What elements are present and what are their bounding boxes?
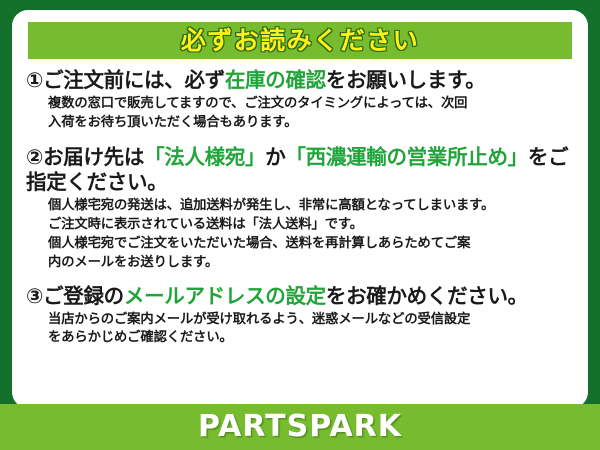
section-1-heading-part-1: ご注文前には、必ず xyxy=(43,68,225,92)
section-3-marker: ③ xyxy=(26,284,43,308)
notice-card: 必ずお読みください ①ご注文前には、必ず在庫の確認をお願いします。 複数の窓口で… xyxy=(0,0,600,450)
notice-section-3: ③ご登録のメールアドレスの設定をお確かめください。 当店からのご案内メールが受け… xyxy=(26,284,578,349)
section-3-heading-part-3: をお確かめください。 xyxy=(326,284,528,308)
section-2-heading-part-3: か xyxy=(265,145,285,169)
notice-title: 必ずお読みください xyxy=(181,28,420,53)
section-2-heading: ②お届け先は「法人様宛」か「西濃運輸の営業所止め」をご指定ください。 xyxy=(26,145,578,197)
section-2-body: 個人様宅宛の発送は、追加送料が発生し、非常に高額となってしまいます。ご注文時に表… xyxy=(26,197,578,273)
section-1-heading: ①ご注文前には、必ず在庫の確認をお願いします。 xyxy=(26,68,578,94)
partspark-logo: PARTSPARK xyxy=(198,412,402,442)
section-1-body: 複数の窓口で販売してますので、ご注文のタイミングによっては、次回入荷をお待ち頂い… xyxy=(26,95,578,133)
section-1-heading-part-2: 在庫の確認 xyxy=(225,68,326,92)
section-2-body-line-1: 個人様宅宛の発送は、追加送料が発生し、非常に高額となってしまいます。 xyxy=(48,197,578,216)
notice-panel: 必ずお読みください ①ご注文前には、必ず在庫の確認をお願いします。 複数の窓口で… xyxy=(12,10,588,408)
notice-sections: ①ご注文前には、必ず在庫の確認をお願いします。 複数の窓口で販売してますので、ご… xyxy=(12,68,588,348)
section-1-heading-part-3: をお願いします。 xyxy=(326,68,486,92)
section-2-heading-part-1: お届け先は xyxy=(43,145,144,169)
notice-section-1: ①ご注文前には、必ず在庫の確認をお願いします。 複数の窓口で販売してますので、ご… xyxy=(26,68,578,133)
section-2-marker: ② xyxy=(26,145,43,169)
section-2-heading-part-4: 「西濃運輸の営業所止め」 xyxy=(285,145,527,169)
section-1-body-line-2: 入荷をお待ち頂いただく場合もあります。 xyxy=(48,114,578,133)
header-banner: 必ずお読みください xyxy=(28,22,572,59)
section-3-body-line-2: をあらかじめご確認ください。 xyxy=(48,329,578,348)
section-3-heading-part-1: ご登録の xyxy=(43,284,124,308)
section-2-heading-part-2: 「法人様宛」 xyxy=(144,145,265,169)
section-2-body-line-4: 内のメールをお送りします。 xyxy=(48,254,578,273)
section-1-marker: ① xyxy=(26,68,43,92)
section-3-heading: ③ご登録のメールアドレスの設定をお確かめください。 xyxy=(26,284,578,310)
section-3-body: 当店からのご案内メールが受け取れるよう、迷惑メールなどの受信設定をあらかじめご確… xyxy=(26,311,578,349)
section-2-body-line-2: ご注文時に表示されている送料は「法人送料」です。 xyxy=(48,216,578,235)
footer-brand-band: PARTSPARK xyxy=(0,404,600,450)
section-3-body-line-1: 当店からのご案内メールが受け取れるよう、迷惑メールなどの受信設定 xyxy=(48,311,578,330)
notice-section-2: ②お届け先は「法人様宛」か「西濃運輸の営業所止め」をご指定ください。 個人様宅宛… xyxy=(26,145,578,273)
section-3-heading-part-2: メールアドレスの設定 xyxy=(124,284,326,308)
section-2-body-line-3: 個人様宅宛でご注文をいただいた場合、送料を再計算しあらためてご案 xyxy=(48,235,578,254)
section-1-body-line-1: 複数の窓口で販売してますので、ご注文のタイミングによっては、次回 xyxy=(48,95,578,114)
